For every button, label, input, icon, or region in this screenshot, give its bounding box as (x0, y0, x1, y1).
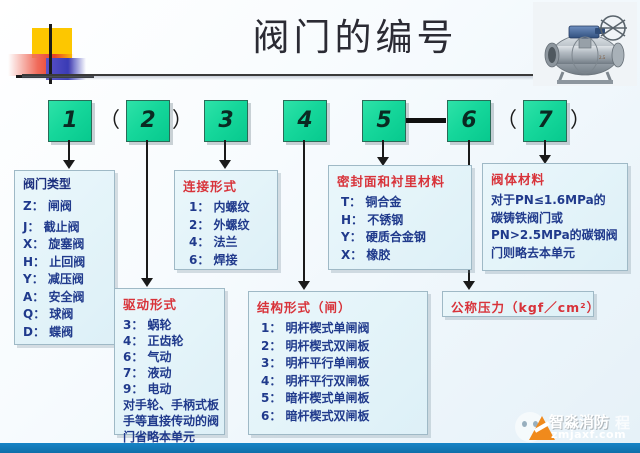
slide-canvas: 阀门的编号 (0, 0, 640, 453)
left-paren-7: （ (496, 100, 517, 140)
drive-form-line-5: 对手轮、手柄式板 (123, 397, 218, 413)
connection-form-line-0: 1： 内螺纹 (183, 199, 271, 217)
drive-form-line-1: 4： 正齿轮 (123, 333, 218, 349)
structure-form-line-5: 6： 暗杆楔式双闸板 (257, 408, 421, 426)
connection-form-line-1: 2： 外螺纹 (183, 217, 271, 235)
drive-form-heading: 驱动形式 (123, 294, 218, 313)
code-box-6[interactable]: 6 (447, 100, 491, 142)
structure-form-line-1: 2： 明杆楔式双闸板 (257, 338, 421, 356)
body-material-heading: 阀体材料 (491, 169, 621, 188)
body-material-line-1: 碳铸铁阀门或 (491, 210, 621, 228)
page-title: 阀门的编号 (215, 12, 495, 64)
arrow-head-3 (219, 160, 231, 169)
valve-type-line-6: Q： 球阀 (23, 306, 108, 324)
info-box-connection-form: 连接形式 1： 内螺纹 2： 外螺纹 4： 法兰 6： 焊接 (174, 170, 278, 270)
drive-form-line-3: 7： 液动 (123, 365, 218, 381)
body-material-line-2: PN>2.5MPa的碳钢阀 (491, 227, 621, 245)
connector-line-4 (303, 140, 305, 286)
right-paren-7: ） (570, 100, 591, 140)
watermark: 程 智淼消防 zmjaxf.com (515, 410, 635, 446)
valve-type-line-0: Z： 闸阀 (23, 198, 108, 216)
code-box-4[interactable]: 4 (283, 100, 327, 142)
body-material-line-0: 对于PN≤1.6MPa的 (491, 192, 621, 210)
info-box-body-material: 阀体材料 对于PN≤1.6MPa的 碳铸铁阀门或 PN>2.5MPa的碳钢阀 门… (482, 163, 628, 271)
svg-text:2.5: 2.5 (599, 56, 606, 61)
title-divider-shadow (22, 76, 552, 80)
drive-form-line-6: 手等直接传动的阀 (123, 413, 218, 429)
valve-type-heading: 阀门类型 (23, 176, 108, 192)
info-box-seal-material: 密封面和衬里材料 T： 铜合金 H： 不锈钢 Y： 硬质合金钢 X： 橡胶 (328, 165, 472, 270)
info-box-structure-form: 结构形式（闸） 1： 明杆楔式单闸阀 2： 明杆楔式双闸板 3： 明杆平行单闸板… (248, 291, 428, 435)
code-box-7[interactable]: 7 (523, 100, 567, 142)
structure-form-heading: 结构形式（闸） (257, 297, 421, 316)
connection-form-line-2: 4： 法兰 (183, 234, 271, 252)
code-box-2[interactable]: 2 (126, 100, 170, 142)
drive-form-line-0: 3： 蜗轮 (123, 317, 218, 333)
drive-form-line-7: 门省略本单元 (123, 429, 218, 445)
right-paren-2: ） (172, 100, 193, 140)
structure-form-line-0: 1： 明杆楔式单闸阀 (257, 320, 421, 338)
structure-form-line-3: 4： 明杆平行双闸板 (257, 373, 421, 391)
valve-type-line-5: A： 安全阀 (23, 289, 108, 307)
valve-type-line-1: J： 截止阀 (23, 219, 108, 237)
body-material-line-3: 门则略去本单元 (491, 245, 621, 263)
nominal-pressure-heading: 公称压力（kgf／cm²） (451, 297, 587, 316)
drive-form-line-2: 6： 气动 (123, 349, 218, 365)
valve-type-line-3: H： 止回阀 (23, 254, 108, 272)
dash-separator (406, 118, 446, 123)
code-box-5[interactable]: 5 (362, 100, 406, 142)
ball-valve-photo: 2.5 (533, 2, 637, 86)
watermark-domain: zmjaxf.com (551, 428, 626, 441)
valve-type-line-4: Y： 减压阀 (23, 271, 108, 289)
connector-line-2 (146, 140, 148, 283)
structure-form-line-2: 3： 明杆平行单闸板 (257, 355, 421, 373)
code-box-3[interactable]: 3 (204, 100, 248, 142)
arrow-head-1 (63, 160, 75, 169)
seal-material-heading: 密封面和衬里材料 (337, 171, 465, 190)
left-paren-2: （ (99, 100, 120, 140)
seal-material-line-1: H： 不锈钢 (337, 212, 465, 230)
info-box-drive-form: 驱动形式 3： 蜗轮 4： 正齿轮 6： 气动 7： 液动 9： 电动 对手轮、… (114, 288, 225, 435)
info-box-nominal-pressure: 公称压力（kgf／cm²） (442, 291, 594, 317)
structure-form-line-4: 5： 暗杆楔式单闸板 (257, 390, 421, 408)
arrow-head-6 (463, 281, 475, 290)
seal-material-line-0: T： 铜合金 (337, 194, 465, 212)
valve-type-line-7: D： 蝶阀 (23, 324, 108, 342)
info-box-valve-type: 阀门类型 Z： 闸阀 J： 截止阀 X： 旋塞阀 H： 止回阀 Y： 减压阀 A… (14, 170, 115, 345)
valve-type-line-2: X： 旋塞阀 (23, 236, 108, 254)
seal-material-line-2: Y： 硬质合金钢 (337, 229, 465, 247)
drive-form-line-4: 9： 电动 (123, 381, 218, 397)
arrow-head-4 (298, 281, 310, 290)
seal-material-line-3: X： 橡胶 (337, 247, 465, 265)
connection-form-line-3: 6： 焊接 (183, 252, 271, 270)
connection-form-heading: 连接形式 (183, 176, 271, 195)
code-box-1[interactable]: 1 (48, 100, 92, 142)
arrow-head-2 (141, 278, 153, 287)
